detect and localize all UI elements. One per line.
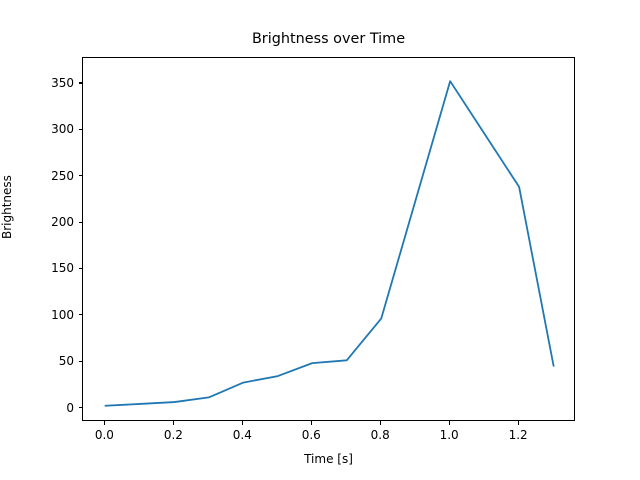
y-tick-label: 150 [40,261,74,275]
chart-title: Brightness over Time [82,30,575,48]
y-tick-label: 200 [40,215,74,229]
y-tick-label: 350 [40,76,74,90]
y-tick-label: 100 [40,308,74,322]
brightness-line-series [105,81,553,406]
chart-figure: Brightness over Time Brightness Time [s]… [0,0,640,480]
x-tick-label: 1.2 [509,428,528,442]
y-axis-label: Brightness [0,175,14,239]
x-tick-label: 0.6 [302,428,321,442]
y-tick-label: 50 [40,354,74,368]
y-tick-label: 250 [40,169,74,183]
x-tick-label: 0.2 [164,428,183,442]
x-axis-label: Time [s] [82,452,575,466]
x-tick-label: 0.0 [95,428,114,442]
y-tick-label: 300 [40,122,74,136]
y-tick-label: 0 [40,401,74,415]
x-tick-label: 0.8 [371,428,390,442]
data-line-svg [83,58,576,422]
x-tick-label: 0.4 [233,428,252,442]
plot-area [82,57,575,421]
x-tick-label: 1.0 [440,428,459,442]
